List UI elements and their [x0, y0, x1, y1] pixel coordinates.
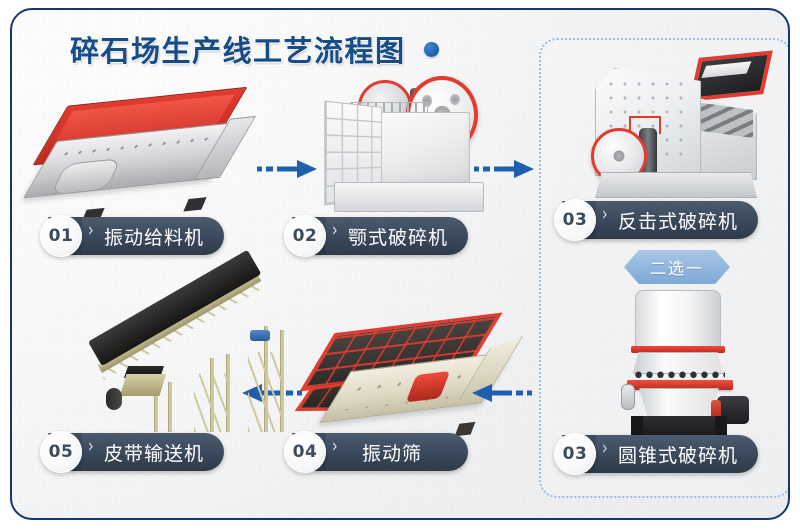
step-label-05[interactable]: 05 › 皮带输送机 [40, 432, 224, 472]
step-label-text-02: 颚式破碎机 [348, 223, 448, 250]
step-number-04: 04 [284, 431, 326, 473]
chevron-right-icon: › [88, 221, 95, 242]
blue-dot-icon [424, 42, 439, 57]
chevron-right-icon: › [332, 437, 339, 458]
arrow-jaw-to-impact [474, 158, 536, 180]
belt-conveyor-icon [98, 312, 298, 438]
flowchart-page: 碎石场生产线工艺流程图 [0, 0, 800, 530]
chevron-right-icon: › [602, 205, 609, 226]
machine-vibrating-feeder [30, 80, 250, 210]
step-name-pill-01[interactable]: › 振动给料机 [70, 217, 224, 255]
step-label-text-05: 皮带输送机 [104, 439, 204, 466]
machine-vibrating-screen [297, 310, 517, 438]
impact-crusher-icon [577, 54, 777, 204]
page-title: 碎石场生产线工艺流程图 [70, 28, 406, 70]
step-number-01: 01 [40, 215, 82, 257]
step-name-pill-02[interactable]: › 颚式破碎机 [314, 217, 468, 255]
chevron-right-icon: › [332, 221, 339, 242]
step-label-text-03-impact: 反击式破碎机 [618, 207, 738, 234]
step-label-text-03-cone: 圆锥式破碎机 [618, 441, 738, 468]
step-number-03-impact: 03 [554, 199, 596, 241]
step-label-03-impact[interactable]: 03 › 反击式破碎机 [554, 200, 758, 240]
step-label-text-04: 振动筛 [362, 439, 422, 466]
jaw-crusher-icon [322, 76, 502, 216]
vibrating-feeder-icon [36, 87, 246, 221]
machine-belt-conveyor [92, 306, 302, 438]
step-label-03-cone[interactable]: 03 › 圆锥式破碎机 [554, 434, 758, 474]
choose-one-badge: 二选一 [624, 250, 730, 284]
step-name-pill-04[interactable]: › 振动筛 [314, 433, 468, 471]
step-name-pill-03-cone[interactable]: › 圆锥式破碎机 [584, 435, 758, 473]
step-number-05: 05 [40, 431, 82, 473]
machine-impact-crusher [567, 48, 787, 213]
step-number-02: 02 [284, 215, 326, 257]
vibrating-screen-icon [307, 311, 511, 446]
cone-crusher-icon [605, 284, 775, 444]
chevron-right-icon: › [88, 437, 95, 458]
step-label-text-01: 振动给料机 [104, 223, 204, 250]
chevron-right-icon: › [602, 439, 609, 460]
step-label-01[interactable]: 01 › 振动给料机 [40, 216, 224, 256]
title-block: 碎石场生产线工艺流程图 [70, 28, 439, 70]
diagram-frame: 碎石场生产线工艺流程图 [10, 8, 790, 520]
step-label-04[interactable]: 04 › 振动筛 [284, 432, 468, 472]
step-label-02[interactable]: 02 › 颚式破碎机 [284, 216, 468, 256]
arrow-feeder-to-jaw [257, 158, 319, 180]
step-number-03-cone: 03 [554, 433, 596, 475]
step-name-pill-05[interactable]: › 皮带输送机 [70, 433, 224, 471]
step-name-pill-03-impact[interactable]: › 反击式破碎机 [584, 201, 758, 239]
machine-jaw-crusher [312, 72, 502, 212]
arrow-cone-to-screen [470, 382, 532, 404]
machine-cone-crusher [577, 282, 787, 452]
